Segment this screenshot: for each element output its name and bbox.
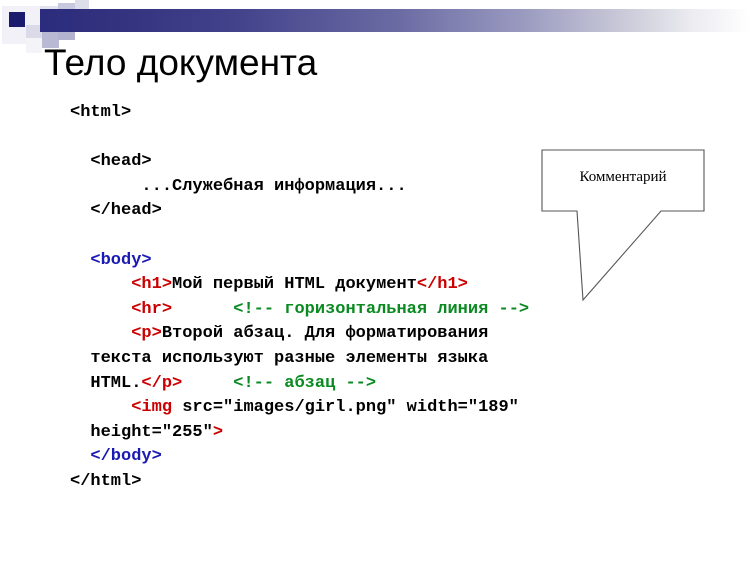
deco-square-light-b <box>26 38 42 53</box>
code-line: </head> <box>70 199 690 224</box>
code-line: текста используют разные элементы языка <box>70 347 690 372</box>
code-token <box>172 300 233 319</box>
code-token: </head> <box>70 201 162 220</box>
code-token <box>182 374 233 393</box>
code-line: HTML.</p> <!-- абзац --> <box>70 372 690 397</box>
deco-square-dark-small <box>9 12 25 27</box>
code-token: <h1> <box>70 275 172 294</box>
code-token: <!-- абзац --> <box>233 374 376 393</box>
code-line: height="255"> <box>70 421 690 446</box>
code-token: Мой первый HTML документ <box>172 275 417 294</box>
page-title: Тело документа <box>44 42 317 84</box>
code-token: <hr> <box>70 300 172 319</box>
slide-canvas: Тело документа <html> <head> ...Служебна… <box>0 0 750 561</box>
code-listing: <html> <head> ...Служебная информация...… <box>70 101 690 495</box>
header-gradient-bar <box>40 9 750 32</box>
code-token: </p> <box>141 374 182 393</box>
code-token: <p> <box>70 324 162 343</box>
code-token: ...Служебная информация... <box>70 177 407 196</box>
code-line: <body> <box>70 249 690 274</box>
header-decoration <box>0 0 750 48</box>
code-token: Второй абзац. Для форматирования <box>162 324 488 343</box>
code-line: <img src="images/girl.png" width="189" <box>70 396 690 421</box>
callout-label: Комментарий <box>542 169 704 186</box>
code-line: </body> <box>70 445 690 470</box>
code-token: текста используют разные элементы языка <box>70 349 488 368</box>
code-token: <html> <box>70 103 131 122</box>
code-line: <hr> <!-- горизонтальная линия --> <box>70 298 690 323</box>
code-token: > <box>213 423 223 442</box>
code-token: <body> <box>70 251 152 270</box>
code-line: <p>Второй абзац. Для форматирования <box>70 322 690 347</box>
code-line: </html> <box>70 470 690 495</box>
code-line <box>70 224 690 249</box>
code-line: <html> <box>70 101 690 126</box>
code-token: </h1> <box>417 275 468 294</box>
code-token: </body> <box>70 447 162 466</box>
code-token: src="images/girl.png" width="189" <box>172 398 519 417</box>
code-token: <!-- горизонтальная линия --> <box>233 300 529 319</box>
code-token: HTML. <box>70 374 141 393</box>
code-line: <h1>Мой первый HTML документ</h1> <box>70 273 690 298</box>
code-token: <head> <box>70 152 152 171</box>
code-token: </html> <box>70 472 141 491</box>
code-line <box>70 126 690 151</box>
code-token: <img <box>70 398 172 417</box>
code-token: height="255" <box>70 423 213 442</box>
